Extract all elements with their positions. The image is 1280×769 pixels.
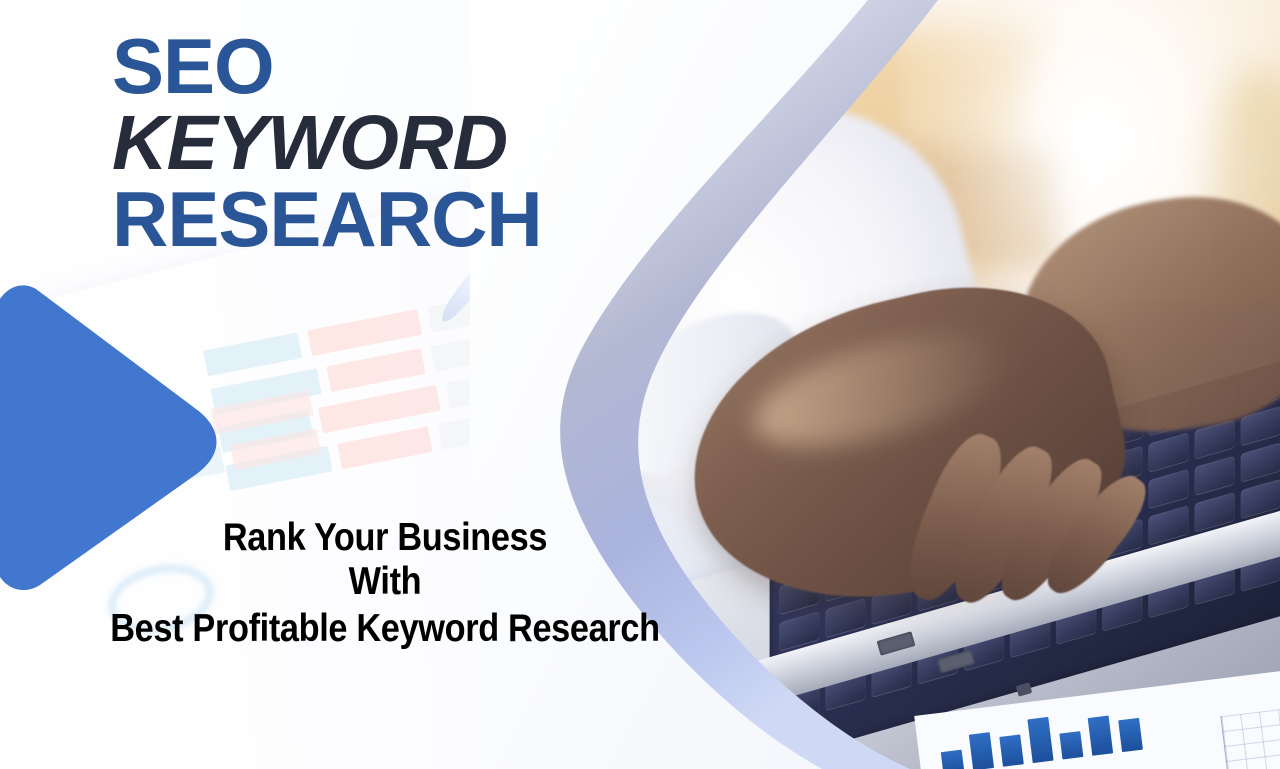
seo-keyword-research-banner: SEO KEYWORD RESEARCH Rank Your Business … bbox=[0, 0, 1280, 769]
headline-line-1: SEO bbox=[112, 28, 632, 105]
headline-line-2: KEYWORD bbox=[112, 105, 632, 181]
subheadline-line-2: With bbox=[46, 560, 724, 604]
subheadline-line-1: Rank Your Business bbox=[46, 516, 724, 560]
subheadline: Rank Your Business With Best Profitable … bbox=[0, 516, 770, 651]
headline-line-3: RESEARCH bbox=[112, 181, 632, 258]
headline: SEO KEYWORD RESEARCH bbox=[112, 28, 632, 259]
subheadline-line-3: Best Profitable Keyword Research bbox=[46, 607, 724, 651]
laptop-photo bbox=[520, 0, 1280, 769]
